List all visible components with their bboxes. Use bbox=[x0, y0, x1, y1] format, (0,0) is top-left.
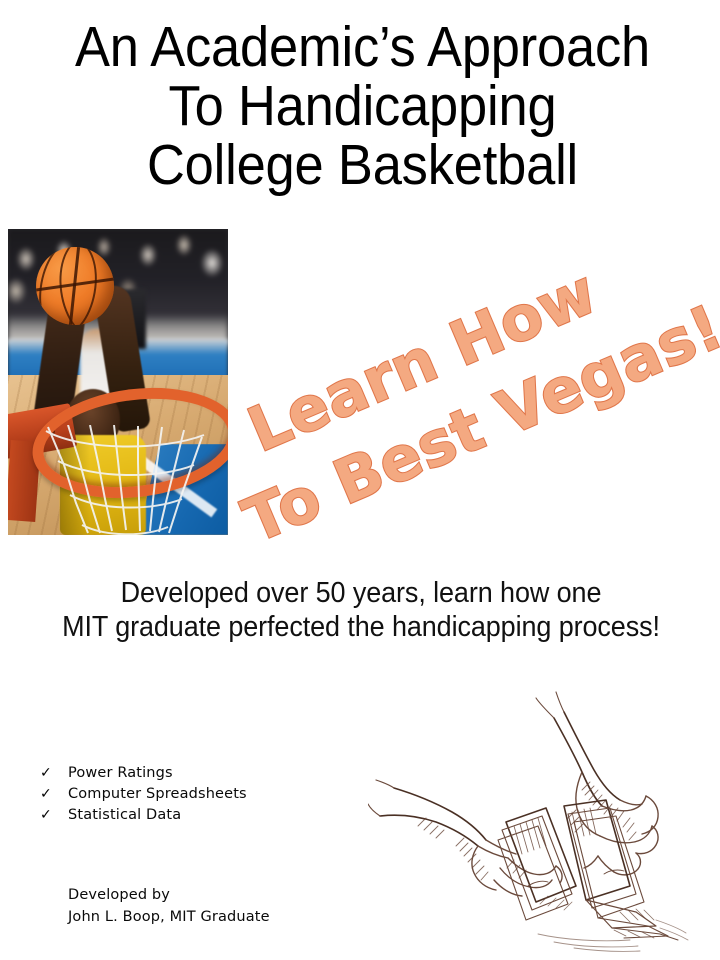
check-icon: ✓ bbox=[40, 763, 68, 784]
subtitle-block: Developed over 50 years, learn how one M… bbox=[0, 576, 720, 644]
photo-basketball-net bbox=[42, 425, 210, 535]
list-item: ✓ Power Ratings bbox=[40, 763, 340, 784]
subtitle-line-2: MIT graduate perfected the handicapping … bbox=[25, 610, 696, 644]
slogan-headline: Learn How To Best Vegas! bbox=[247, 247, 717, 497]
page-title: An Academic’s Approach To Handicapping C… bbox=[0, 18, 720, 195]
check-icon: ✓ bbox=[40, 784, 68, 805]
title-line-3: College Basketball bbox=[29, 136, 696, 195]
subtitle-line-1: Developed over 50 years, learn how one bbox=[25, 576, 696, 610]
list-item: ✓ Statistical Data bbox=[40, 805, 340, 826]
feature-label: Statistical Data bbox=[68, 805, 181, 826]
hands-dealing-cards-sketch bbox=[368, 690, 708, 952]
feature-label: Power Ratings bbox=[68, 763, 173, 784]
poster-canvas: An Academic’s Approach To Handicapping C… bbox=[0, 0, 720, 960]
photo-basketball bbox=[36, 247, 114, 325]
check-icon: ✓ bbox=[40, 805, 68, 826]
credit-line-1: Developed by bbox=[68, 884, 270, 906]
title-line-2: To Handicapping bbox=[29, 77, 696, 136]
feature-label: Computer Spreadsheets bbox=[68, 784, 247, 805]
feature-list: ✓ Power Ratings ✓ Computer Spreadsheets … bbox=[40, 763, 340, 826]
basketball-dunk-photo bbox=[8, 229, 228, 535]
credit-line-2: John L. Boop, MIT Graduate bbox=[68, 906, 270, 928]
list-item: ✓ Computer Spreadsheets bbox=[40, 784, 340, 805]
title-line-1: An Academic’s Approach bbox=[29, 18, 696, 77]
slogan-line-2: To Best Vegas! bbox=[234, 292, 720, 558]
slogan-line-1: Learn How bbox=[238, 256, 606, 466]
author-credit: Developed by John L. Boop, MIT Graduate bbox=[68, 884, 270, 928]
